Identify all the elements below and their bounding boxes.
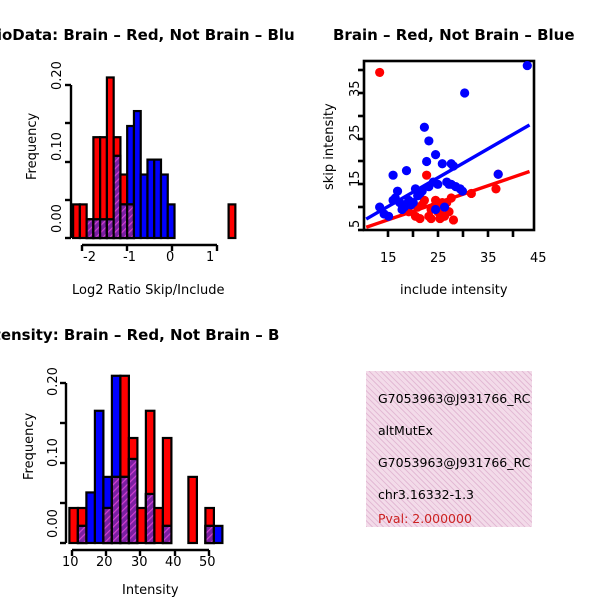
histogram-bar-overlap bbox=[120, 477, 128, 543]
histogram-bar-overlap bbox=[129, 459, 138, 543]
panel-scatter-canvas bbox=[300, 0, 600, 300]
scatter-point bbox=[431, 205, 440, 214]
histogram-bar bbox=[188, 477, 197, 543]
panel-intensity-histogram: ne Itensity: Brain – Red, Not Brain – B … bbox=[0, 300, 300, 600]
scatter-point bbox=[447, 193, 456, 202]
scatter-point bbox=[491, 184, 500, 193]
scatter-point bbox=[467, 189, 476, 198]
histogram-bar bbox=[229, 204, 236, 238]
scatter-point bbox=[427, 214, 436, 223]
scatter-point bbox=[402, 166, 411, 175]
scatter-point bbox=[494, 170, 503, 179]
scatter-point bbox=[422, 157, 431, 166]
histogram-bar bbox=[137, 508, 146, 543]
info-line-coordinates: chr3.16332-1.3 bbox=[378, 487, 474, 502]
histogram-bar-overlap bbox=[146, 494, 155, 543]
histogram-bar bbox=[154, 508, 163, 543]
scatter-point bbox=[422, 171, 431, 180]
info-line-event-type: altMutEx bbox=[378, 423, 433, 438]
scatter-point bbox=[523, 61, 532, 70]
info-line-gene-id-2: G7053963@J931766_RC bbox=[378, 455, 530, 470]
histogram-bar-overlap bbox=[112, 477, 121, 543]
panel-ratio-histogram: RatioData: Brain – Red, Not Brain – Blu … bbox=[0, 0, 300, 300]
scatter-point bbox=[384, 212, 393, 221]
panel-intensity-bars bbox=[69, 376, 222, 543]
info-line-pval: Pval: 2.000000 bbox=[378, 511, 472, 526]
scatter-point bbox=[460, 88, 469, 97]
panel-intensity-canvas bbox=[0, 300, 300, 600]
scatter-point bbox=[424, 136, 433, 145]
scatter-point bbox=[433, 180, 442, 189]
scatter-point bbox=[444, 180, 453, 189]
histogram-bar bbox=[214, 526, 223, 543]
scatter-point bbox=[440, 203, 449, 212]
scatter-point bbox=[411, 184, 420, 193]
info-box: G7053963@J931766_RC altMutEx G7053963@J9… bbox=[366, 371, 532, 527]
scatter-point bbox=[406, 200, 415, 209]
histogram-bar-overlap bbox=[78, 526, 87, 543]
scatter-point bbox=[388, 171, 397, 180]
scatter-point bbox=[431, 150, 440, 159]
histogram-bar-overlap bbox=[103, 508, 112, 543]
histogram-bar bbox=[95, 411, 104, 543]
panel-scatter-points bbox=[375, 61, 532, 225]
histogram-bar-overlap bbox=[205, 526, 214, 543]
scatter-point bbox=[449, 161, 458, 170]
scatter-point bbox=[458, 187, 467, 196]
panel-ratio-bars bbox=[73, 77, 235, 238]
panel-scatter: Brain – Red, Not Brain – Blue skip inten… bbox=[300, 0, 600, 300]
scatter-point bbox=[420, 123, 429, 132]
histogram-bar bbox=[69, 508, 78, 543]
scatter-point bbox=[449, 215, 458, 224]
info-line-gene-id-1: G7053963@J931766_RC bbox=[378, 391, 530, 406]
scatter-point bbox=[415, 214, 424, 223]
histogram-bar bbox=[86, 492, 95, 543]
scatter-point bbox=[438, 159, 447, 168]
histogram-bar bbox=[168, 204, 175, 238]
histogram-bar-overlap bbox=[163, 526, 172, 543]
panel-ratio-canvas bbox=[0, 0, 300, 300]
scatter-point bbox=[375, 68, 384, 77]
